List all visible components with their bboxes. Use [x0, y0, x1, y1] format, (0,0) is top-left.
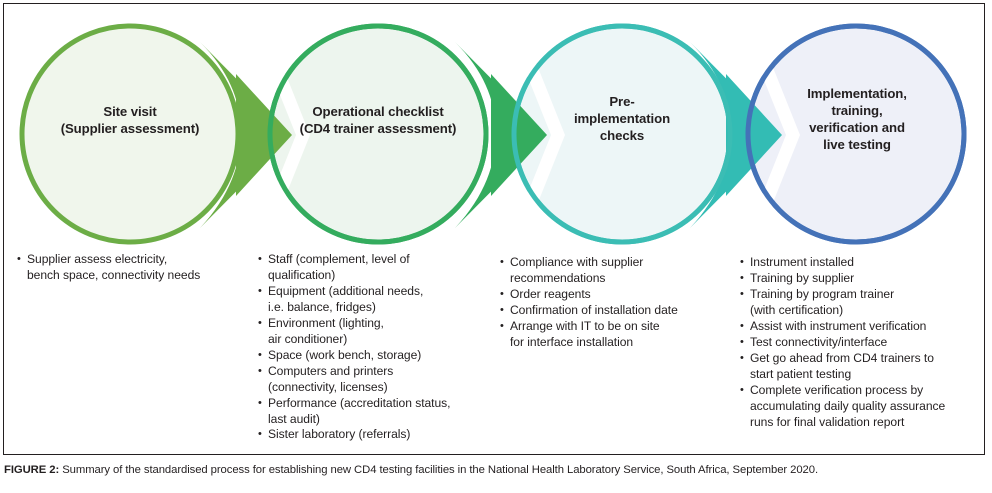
stage-title-site-visit: Site visit (Supplier assessment): [40, 103, 220, 137]
list-item: Arrange with IT to be on site for interf…: [500, 319, 720, 351]
bullet-list-operational-checklist: Staff (complement, level of qualificatio…: [258, 252, 493, 443]
list-item: Training by program trainer (with certif…: [740, 287, 980, 319]
stage-title-pre-implementation-checks: Pre- implementation checks: [543, 93, 701, 144]
list-item: Computers and printers (connectivity, li…: [258, 364, 493, 396]
bullet-list-implementation-training: Instrument installed Training by supplie…: [740, 255, 980, 430]
list-item: Environment (lighting, air conditioner): [258, 316, 493, 348]
bullet-list-site-visit: Supplier assess electricity, bench space…: [17, 252, 242, 284]
list-item: Instrument installed: [740, 255, 980, 271]
list-item: Supplier assess electricity, bench space…: [17, 252, 242, 284]
list-item: Complete verification process by accumul…: [740, 383, 980, 431]
list-item: Order reagents: [500, 287, 720, 303]
figure-container: Site visit (Supplier assessment) Operati…: [0, 0, 992, 493]
stage-title-implementation-training: Implementation, training, verification a…: [773, 85, 941, 154]
figure-caption-text: Summary of the standardised process for …: [59, 464, 818, 476]
list-item: Assist with instrument verification: [740, 319, 980, 335]
figure-caption: FIGURE 2: Summary of the standardised pr…: [4, 463, 988, 478]
stage-title-operational-checklist: Operational checklist (CD4 trainer asses…: [283, 103, 473, 137]
bullet-list-pre-implementation-checks: Compliance with supplier recommendations…: [500, 255, 720, 351]
list-item: Sister laboratory (referrals): [258, 427, 493, 443]
list-item: Equipment (additional needs, i.e. balanc…: [258, 284, 493, 316]
figure-caption-label: FIGURE 2:: [4, 464, 59, 476]
list-item: Compliance with supplier recommendations: [500, 255, 720, 287]
list-item: Training by supplier: [740, 271, 980, 287]
list-item: Test connectivity/interface: [740, 335, 980, 351]
list-item: Staff (complement, level of qualificatio…: [258, 252, 493, 284]
list-item: Space (work bench, storage): [258, 348, 493, 364]
list-item: Confirmation of installation date: [500, 303, 720, 319]
list-item: Get go ahead from CD4 trainers to start …: [740, 351, 980, 383]
list-item: Performance (accreditation status, last …: [258, 396, 493, 428]
